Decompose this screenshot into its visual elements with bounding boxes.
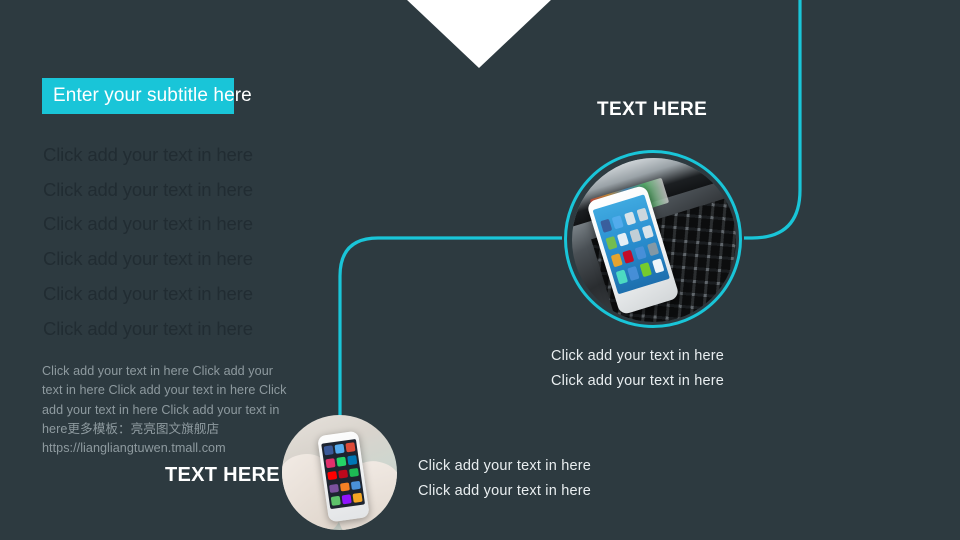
bullet-item[interactable]: Click add your text in here (43, 312, 343, 347)
main-circle-image (564, 150, 742, 328)
hand-holding-phone-photo (282, 415, 397, 530)
subtitle-text[interactable]: Enter your subtitle here (53, 85, 252, 107)
overlay-text-here-label: TEXT HERE (165, 464, 280, 487)
bullet-item[interactable]: Click add your text in here (43, 277, 343, 312)
bottom-body-text[interactable]: Click add your text in here Click add yo… (418, 454, 608, 504)
held-smartphone-screen (322, 439, 366, 510)
social-app-icon-grid (324, 443, 363, 507)
right-body-text[interactable]: Click add your text in here Click add yo… (551, 344, 751, 394)
phone-on-laptop-photo (572, 158, 736, 322)
bullet-item[interactable]: Click add your text in here (43, 207, 343, 242)
top-triangle-decoration (406, 0, 552, 68)
bullet-item[interactable]: Click add your text in here (43, 242, 343, 277)
bottom-circle-image (282, 415, 397, 530)
right-heading: TEXT HERE (597, 99, 707, 121)
main-circle-photo-clip (572, 158, 736, 322)
left-paragraph[interactable]: Click add your text in here Click add yo… (42, 362, 290, 458)
bullet-item[interactable]: Click add your text in here (43, 138, 343, 173)
bullet-item[interactable]: Click add your text in here (43, 173, 343, 208)
bullet-list: Click add your text in here Click add yo… (43, 138, 343, 346)
white-smartphone-shape (586, 184, 680, 315)
slide-canvas: Enter your subtitle here Click add your … (0, 0, 960, 540)
app-icon-grid (599, 207, 663, 284)
